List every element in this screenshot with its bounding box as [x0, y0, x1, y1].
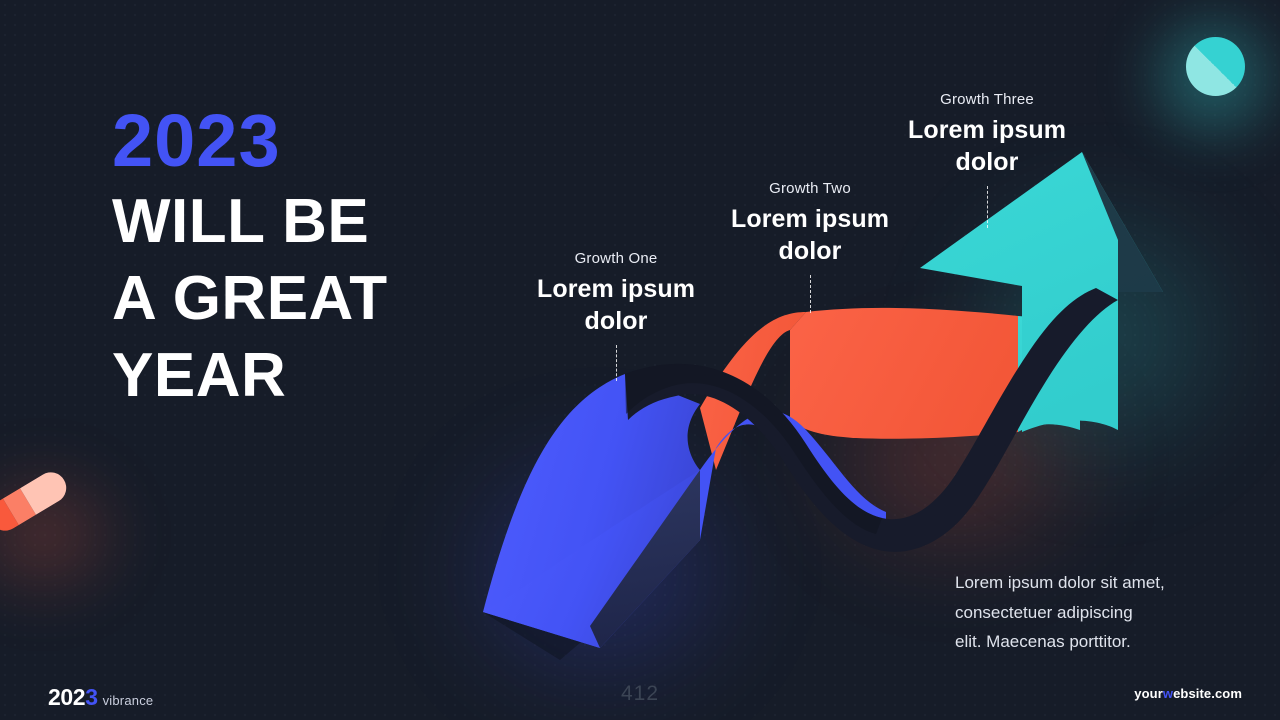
callout-three-title-line2: dolor — [877, 147, 1097, 179]
website-url[interactable]: yourwebsite.com — [1134, 686, 1242, 701]
callout-one-kicker: Growth One — [506, 250, 726, 267]
callout-two-connector — [810, 275, 811, 313]
body-paragraph: Lorem ipsum dolor sit amet, consectetuer… — [955, 568, 1235, 657]
callout-three-connector — [987, 186, 988, 228]
orange-band — [790, 308, 1018, 439]
callout-one-title: Lorem ipsum dolor — [506, 274, 726, 337]
callout-growth-three: Growth Three Lorem ipsum dolor — [877, 91, 1097, 178]
body-line-1: Lorem ipsum dolor sit amet, — [955, 568, 1235, 598]
website-url-pre: your — [1134, 686, 1163, 701]
slide-canvas: 2023 WILL BE A GREAT YEAR Growth One Lor… — [0, 0, 1280, 720]
callout-three-title-line1: Lorem ipsum — [877, 115, 1097, 147]
teal-circle-decoration — [1186, 37, 1245, 96]
callout-three-kicker: Growth Three — [877, 91, 1097, 108]
website-url-accent: w — [1163, 686, 1173, 701]
callout-two-title-line1: Lorem ipsum — [700, 204, 920, 236]
headline-line-3: YEAR — [112, 338, 582, 415]
callout-two-title: Lorem ipsum dolor — [700, 204, 920, 267]
callout-growth-one: Growth One Lorem ipsum dolor — [506, 250, 726, 337]
callout-two-kicker: Growth Two — [700, 180, 920, 197]
callout-three-title: Lorem ipsum dolor — [877, 115, 1097, 178]
body-line-3: elit. Maecenas porttitor. — [955, 627, 1235, 657]
callout-two-title-line2: dolor — [700, 236, 920, 268]
page-number: 412 — [0, 682, 1280, 706]
website-url-post: ebsite.com — [1173, 686, 1242, 701]
callout-growth-two: Growth Two Lorem ipsum dolor — [700, 180, 920, 267]
year-title: 2023 — [112, 104, 582, 178]
callout-one-connector — [616, 345, 617, 381]
callout-one-title-line1: Lorem ipsum — [506, 274, 726, 306]
body-line-2: consectetuer adipiscing — [955, 598, 1235, 628]
callout-one-title-line2: dolor — [506, 306, 726, 338]
